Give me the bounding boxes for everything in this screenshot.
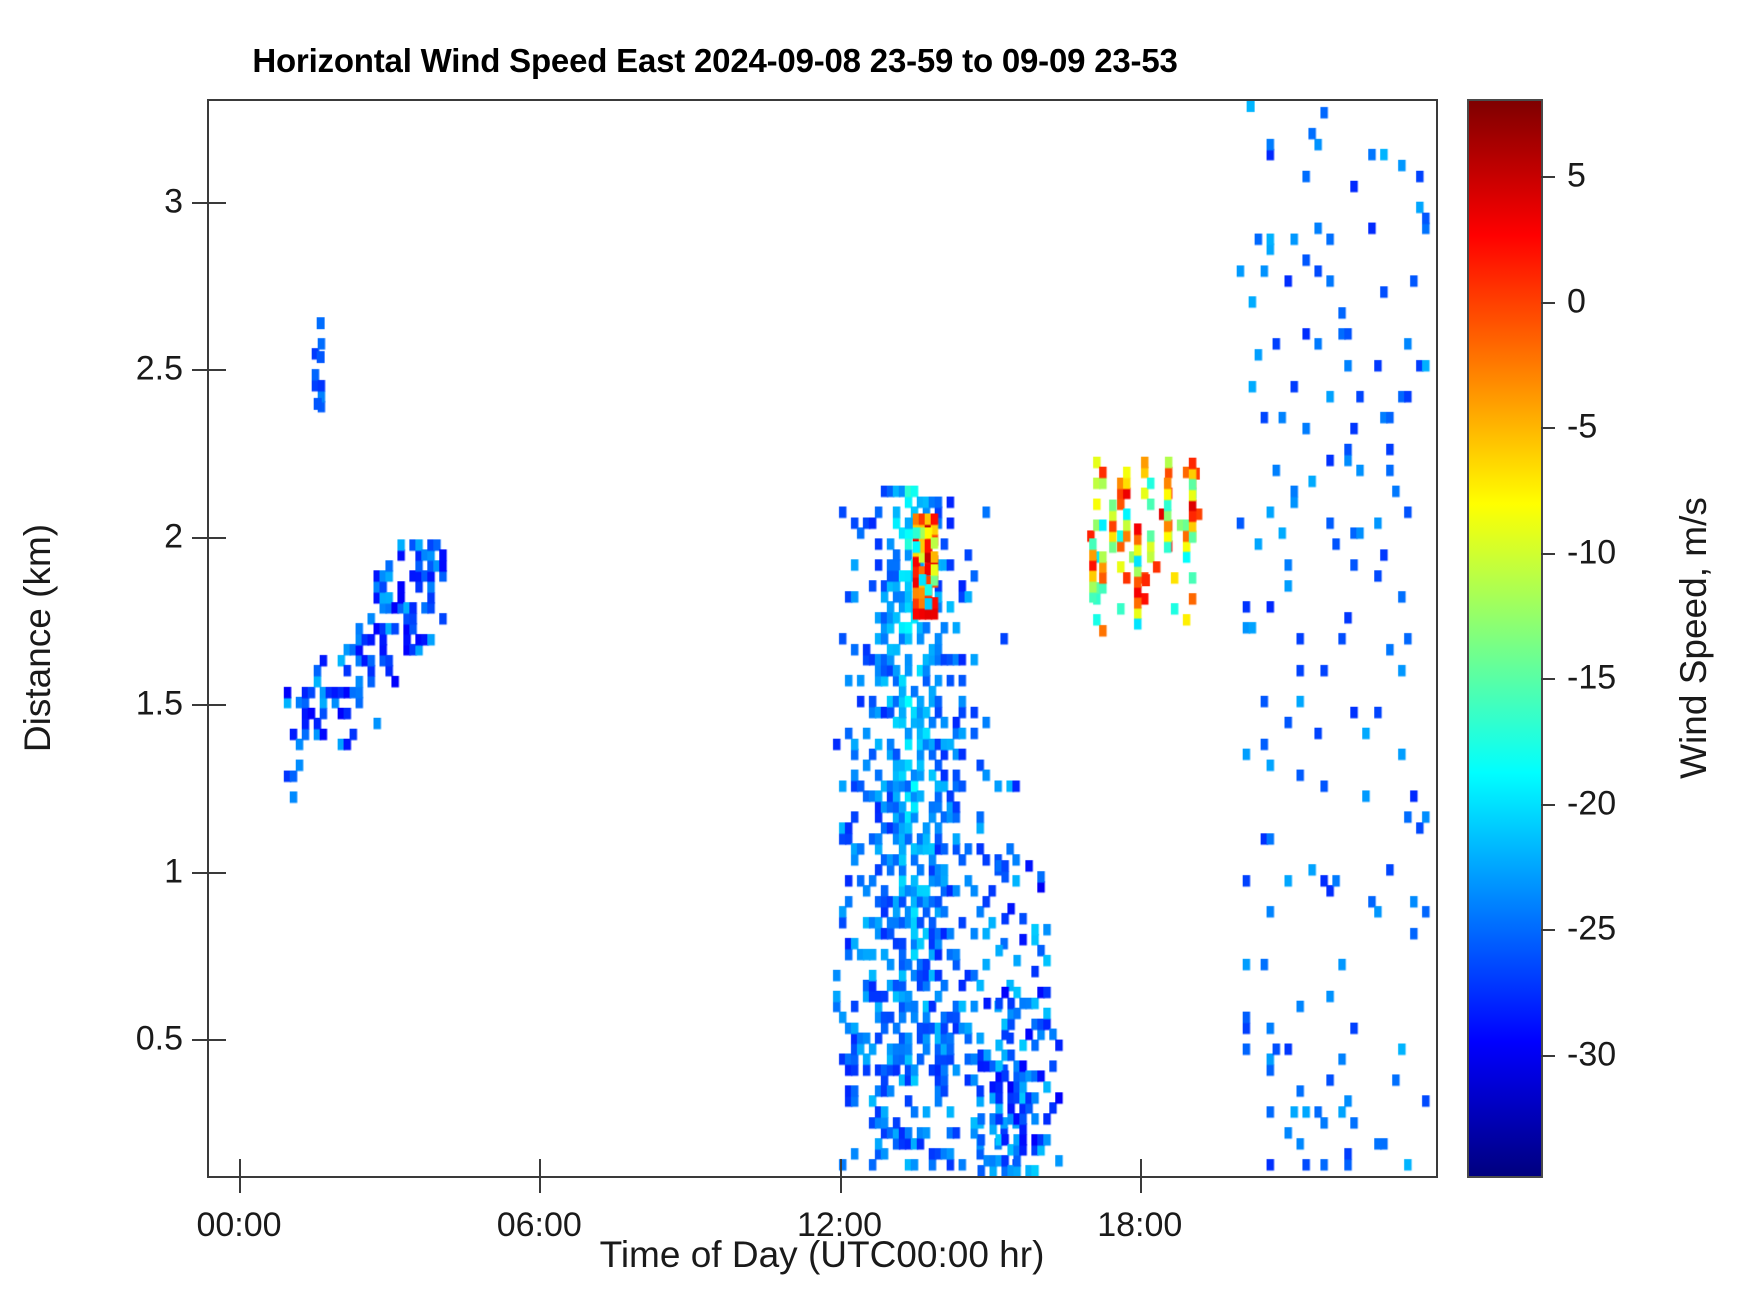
y-tick-mark xyxy=(192,369,209,371)
y-tick-label: 2 xyxy=(164,517,183,556)
colorbar-tick-label: -10 xyxy=(1567,533,1616,572)
colorbar-tick-mark xyxy=(1541,1055,1555,1057)
heatmap-canvas xyxy=(209,101,1436,1176)
colorbar-tick-label: -30 xyxy=(1567,1035,1616,1074)
colorbar-tick-mark xyxy=(1541,929,1555,931)
y-tick-mark xyxy=(192,1039,209,1041)
plot-area: 0.511.522.5300:0006:0012:0018:00 xyxy=(207,99,1438,1178)
y-tick-inner xyxy=(209,369,226,371)
page-title: Horizontal Wind Speed East 2024-09-08 23… xyxy=(0,42,1430,80)
x-tick-label: 06:00 xyxy=(497,1206,582,1245)
y-tick-inner xyxy=(209,1039,226,1041)
colorbar-gradient xyxy=(1469,101,1541,1176)
colorbar-tick-mark xyxy=(1541,553,1555,555)
colorbar-tick-mark xyxy=(1541,678,1555,680)
x-tick-mark xyxy=(239,1176,241,1193)
y-tick-label: 1.5 xyxy=(136,685,183,724)
x-tick-mark xyxy=(1140,1176,1142,1193)
colorbar-tick-mark xyxy=(1541,804,1555,806)
y-axis-title: Distance (km) xyxy=(17,524,59,752)
colorbar-tick-mark xyxy=(1541,176,1555,178)
figure-root: Horizontal Wind Speed East 2024-09-08 23… xyxy=(0,0,1750,1313)
colorbar-tick-label: -25 xyxy=(1567,910,1616,949)
colorbar-tick-label: -5 xyxy=(1567,408,1597,447)
x-tick-inner xyxy=(1140,1159,1142,1176)
colorbar-tick-mark xyxy=(1541,427,1555,429)
colorbar-tick-label: 5 xyxy=(1567,157,1586,196)
y-tick-label: 0.5 xyxy=(136,1020,183,1059)
y-tick-inner xyxy=(209,704,226,706)
y-tick-label: 2.5 xyxy=(136,350,183,389)
y-tick-mark xyxy=(192,704,209,706)
x-tick-inner xyxy=(539,1159,541,1176)
colorbar: 50-5-10-15-20-25-30 xyxy=(1467,99,1543,1178)
y-tick-label: 3 xyxy=(164,182,183,221)
colorbar-title: Wind Speed, m/s xyxy=(1673,497,1715,779)
x-tick-label: 18:00 xyxy=(1097,1206,1182,1245)
colorbar-tick-label: -15 xyxy=(1567,659,1616,698)
y-tick-inner xyxy=(209,537,226,539)
y-tick-mark xyxy=(192,872,209,874)
y-tick-label: 1 xyxy=(164,852,183,891)
colorbar-tick-label: 0 xyxy=(1567,282,1586,321)
x-tick-inner xyxy=(239,1159,241,1176)
x-tick-label: 00:00 xyxy=(196,1206,281,1245)
x-tick-mark xyxy=(539,1176,541,1193)
x-axis-title: Time of Day (UTC00:00 hr) xyxy=(600,1234,1045,1276)
y-tick-mark xyxy=(192,537,209,539)
y-tick-mark xyxy=(192,202,209,204)
y-tick-inner xyxy=(209,202,226,204)
y-tick-inner xyxy=(209,872,226,874)
colorbar-tick-mark xyxy=(1541,302,1555,304)
x-tick-inner xyxy=(840,1159,842,1176)
x-tick-mark xyxy=(840,1176,842,1193)
colorbar-tick-label: -20 xyxy=(1567,784,1616,823)
